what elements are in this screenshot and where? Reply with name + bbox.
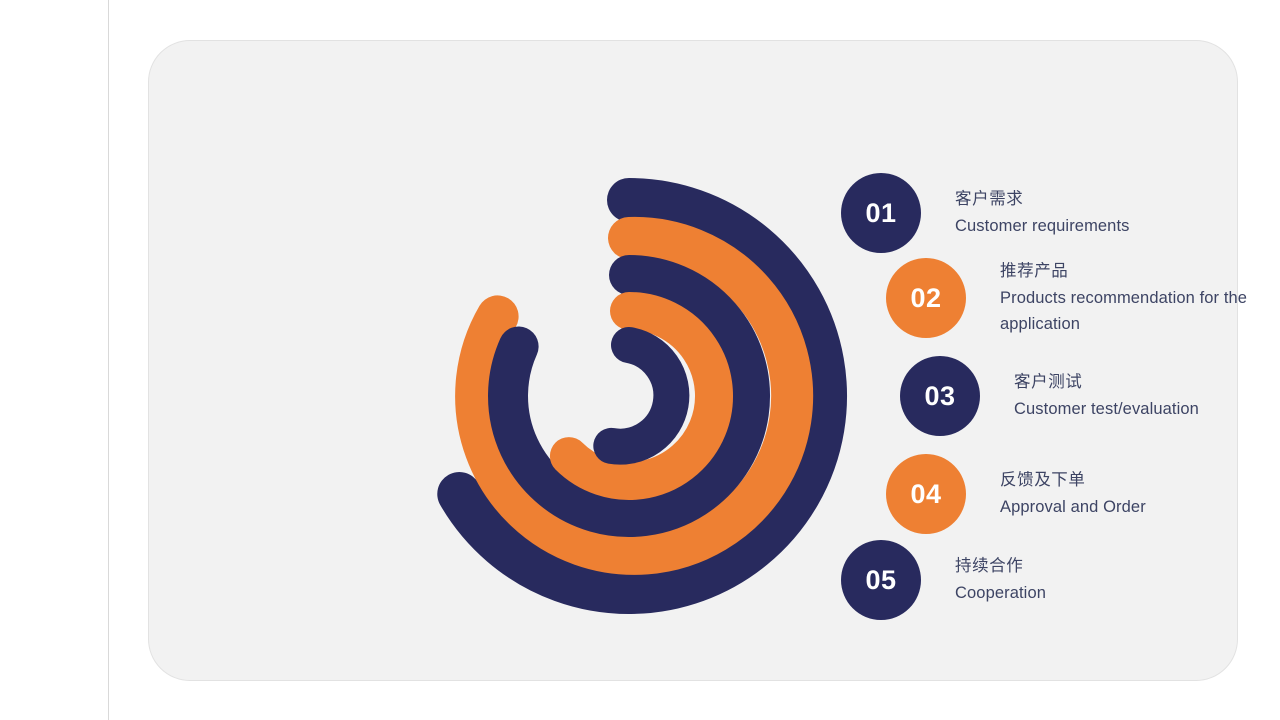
left-guide-rule — [108, 0, 109, 720]
step-badge-04[interactable]: 04 — [886, 454, 966, 534]
step-text-04: 反馈及下单 Approval and Order — [1000, 467, 1146, 520]
slide-canvas: 01 客户需求 Customer requirements 02 推荐产品 Pr… — [0, 0, 1280, 720]
step-title-cn-02: 推荐产品 — [1000, 258, 1272, 285]
step-badge-01[interactable]: 01 — [841, 173, 921, 253]
step-text-05: 持续合作 Cooperation — [955, 553, 1046, 606]
step-number-01: 01 — [865, 200, 896, 227]
step-number-05: 05 — [865, 567, 896, 594]
step-item-02[interactable]: 02 推荐产品 Products recommendation for the … — [886, 258, 1272, 338]
step-number-04: 04 — [910, 481, 941, 508]
step-badge-02[interactable]: 02 — [886, 258, 966, 338]
step-item-04[interactable]: 04 反馈及下单 Approval and Order — [886, 454, 1146, 534]
step-item-05[interactable]: 05 持续合作 Cooperation — [841, 540, 1046, 620]
step-number-03: 03 — [924, 383, 955, 410]
step-title-en-03: Customer test/evaluation — [1014, 396, 1199, 423]
content-card: 01 客户需求 Customer requirements 02 推荐产品 Pr… — [148, 40, 1238, 681]
step-list: 01 客户需求 Customer requirements 02 推荐产品 Pr… — [829, 161, 1280, 641]
spiral-arc-1 — [611, 345, 671, 447]
step-badge-05[interactable]: 05 — [841, 540, 921, 620]
spiral-graphic — [379, 146, 879, 646]
step-title-en-02: Products recommendation for the applicat… — [1000, 285, 1272, 338]
step-title-cn-04: 反馈及下单 — [1000, 467, 1146, 494]
step-title-en-01: Customer requirements — [955, 213, 1130, 240]
step-text-02: 推荐产品 Products recommendation for the app… — [1000, 258, 1272, 338]
step-title-en-04: Approval and Order — [1000, 494, 1146, 521]
step-title-cn-03: 客户测试 — [1014, 369, 1199, 396]
step-title-en-05: Cooperation — [955, 580, 1046, 607]
step-item-03[interactable]: 03 客户测试 Customer test/evaluation — [900, 356, 1199, 436]
step-badge-03[interactable]: 03 — [900, 356, 980, 436]
step-title-cn-05: 持续合作 — [955, 553, 1046, 580]
step-text-03: 客户测试 Customer test/evaluation — [1014, 369, 1199, 422]
step-number-02: 02 — [910, 285, 941, 312]
step-title-cn-01: 客户需求 — [955, 186, 1130, 213]
step-item-01[interactable]: 01 客户需求 Customer requirements — [841, 173, 1130, 253]
step-text-01: 客户需求 Customer requirements — [955, 186, 1130, 239]
